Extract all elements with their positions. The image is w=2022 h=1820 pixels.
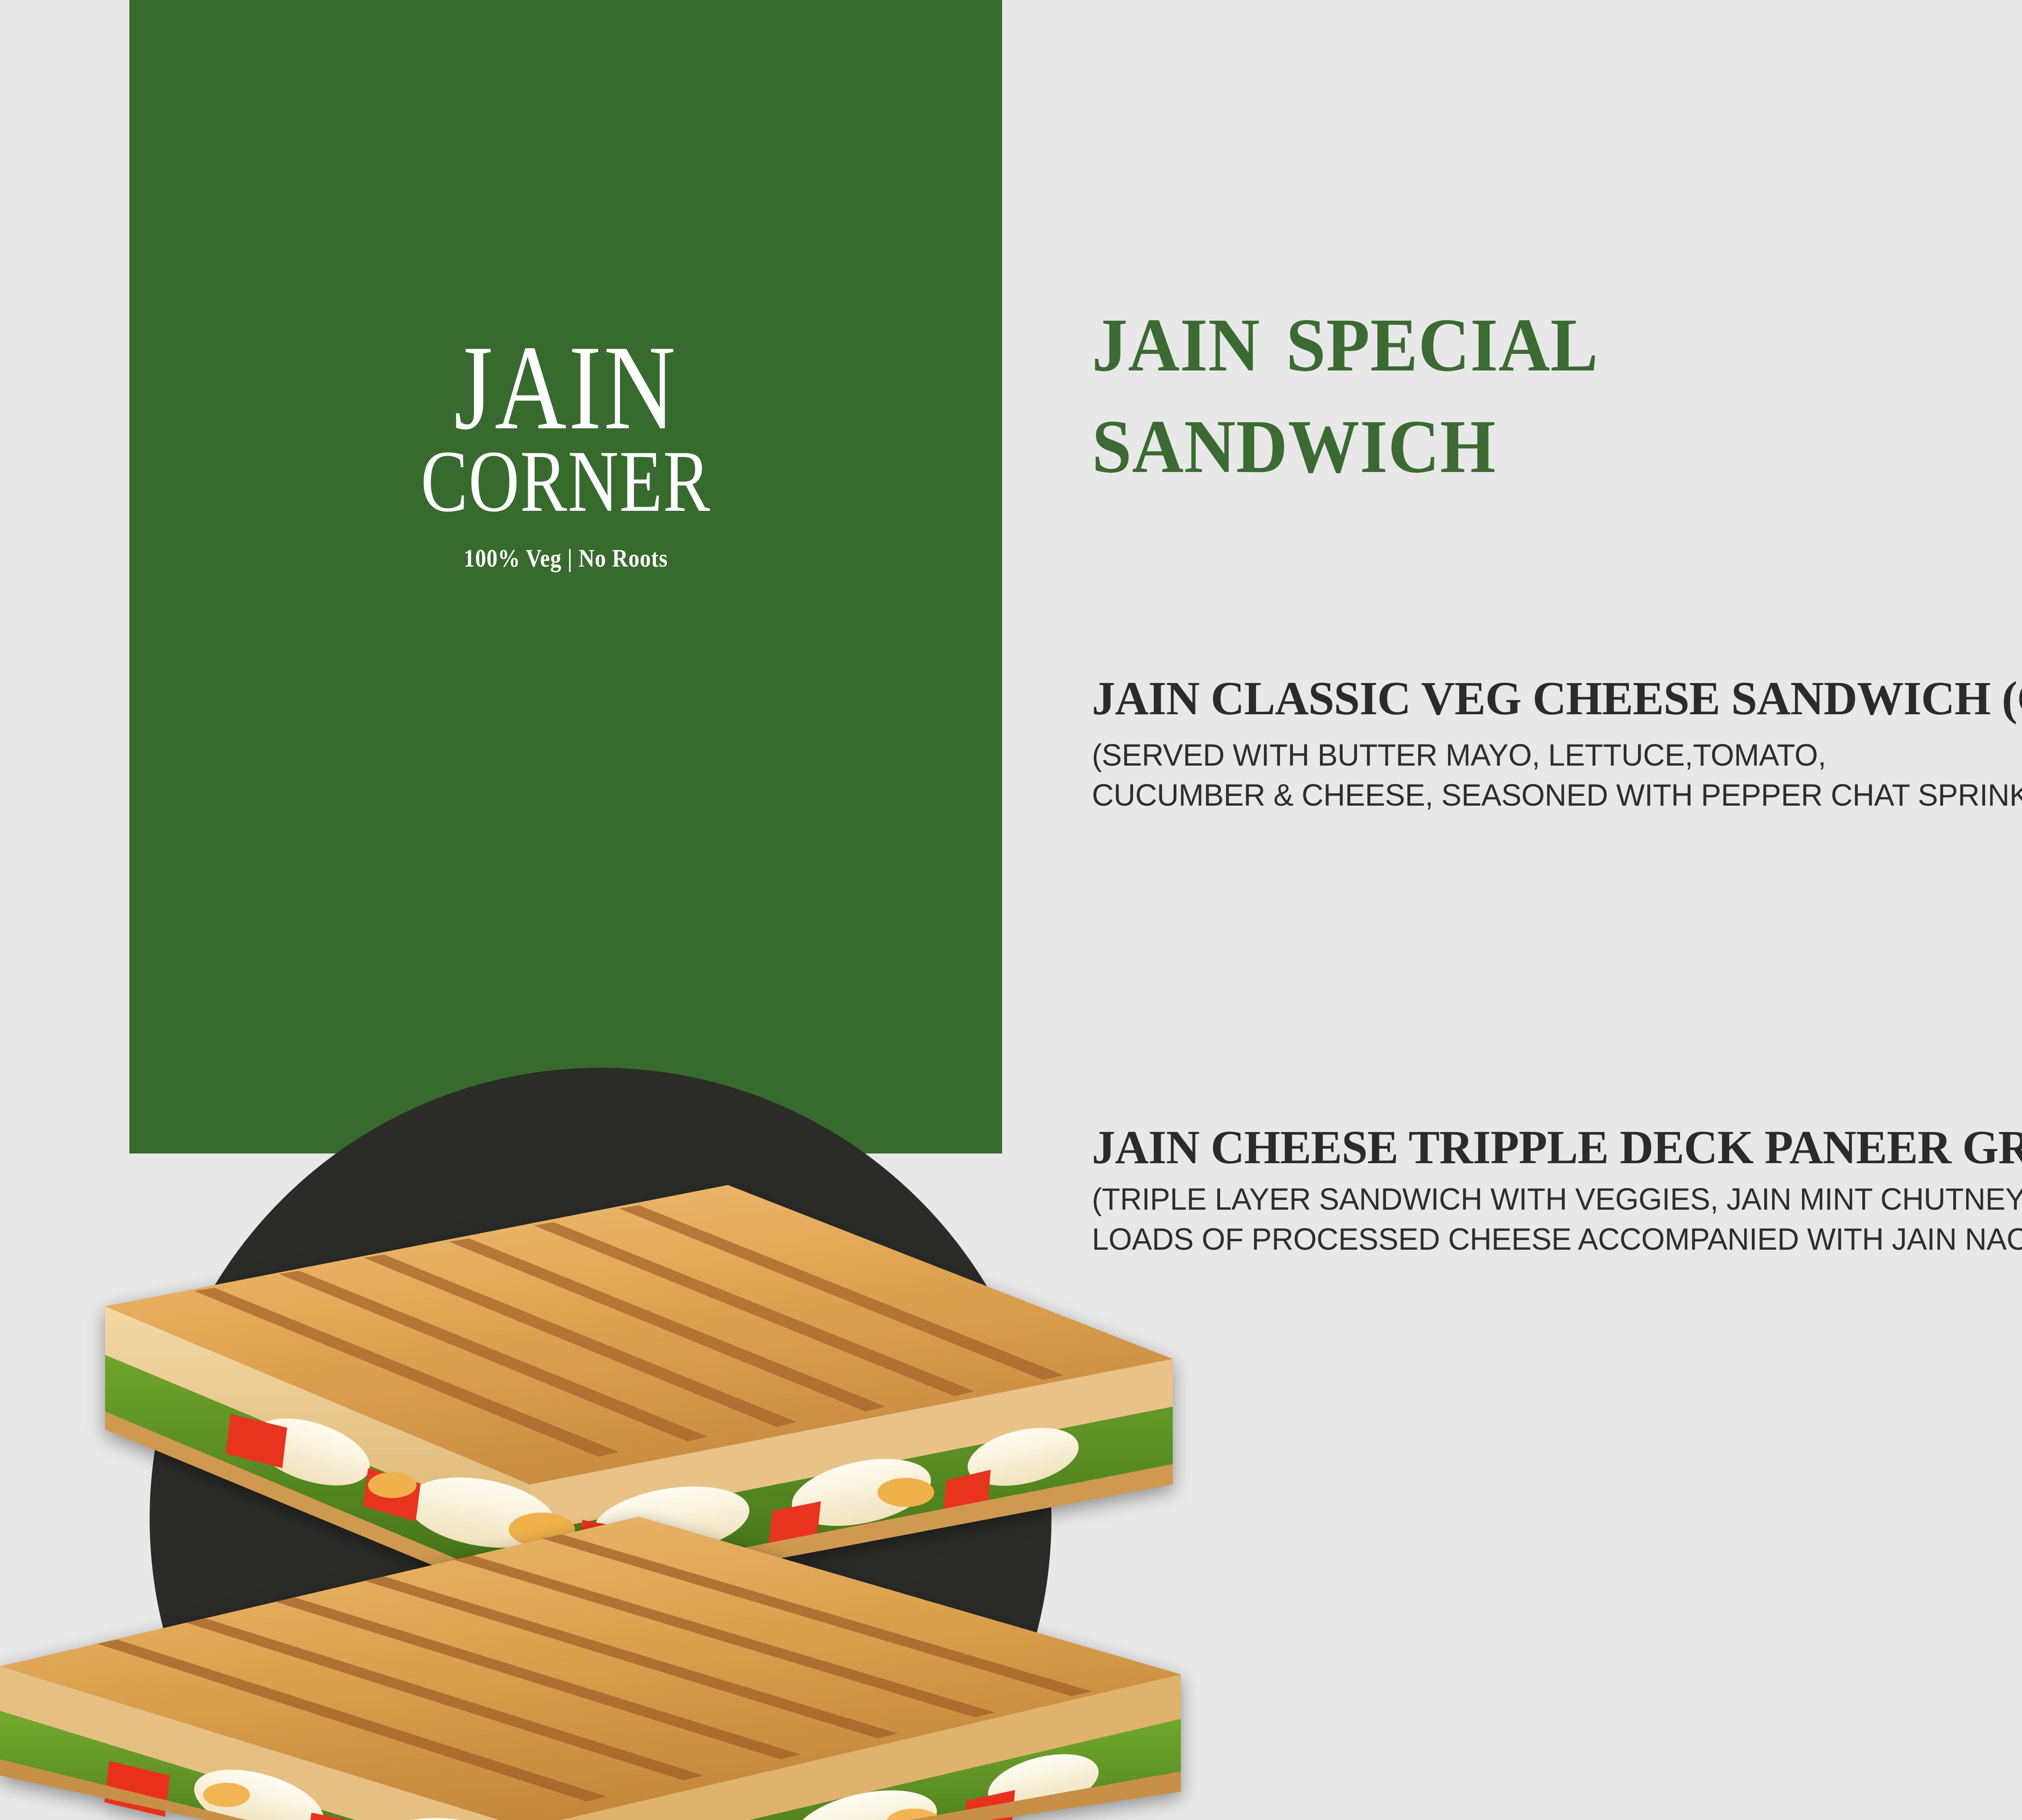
sandwich-slice-bottom-icon — [0, 1492, 1189, 1820]
menu-item-description: (TRIPLE LAYER SANDWICH WITH VEGGIES, JAI… — [1092, 1180, 2022, 1260]
menu-item-description-line2: CUCUMBER & CHEESE, SEASONED WITH PEPPER … — [1092, 776, 2022, 816]
section-title: Jain Special Sandwich — [1092, 283, 2022, 487]
menu-item-name: JAIN CLASSIC VEG CHEESE SANDWICH (COLD S… — [1092, 671, 2022, 725]
menu-item-name-line1: JAIN CLASSIC VEG CHEESE SANDWICH — [1092, 672, 1990, 725]
menu-item-description: (SERVED WITH BUTTER MAYO, LETTUCE,TOMATO… — [1092, 736, 2022, 816]
brand-tagline: 100% Veg | No Roots — [182, 544, 950, 573]
brand-name-line1: JAIN — [208, 332, 924, 443]
brand-lockup: JAIN CORNER 100% Veg | No Roots — [129, 332, 1002, 573]
menu-content: Jain Special Sandwich JAIN CLASSIC VEG C… — [1092, 0, 2022, 1820]
section-title-line1: Jain Special — [1092, 283, 2022, 385]
menu-item[interactable]: JAIN CLASSIC VEG CHEESE SANDWICH (COLD S… — [1092, 671, 2022, 816]
menu-item-description-line1: (SERVED WITH BUTTER MAYO, LETTUCE,TOMATO… — [1092, 736, 2022, 776]
brand-name-line2: CORNER — [217, 438, 915, 526]
menu-item-name-line2: (COLD SW) — [2002, 672, 2022, 725]
menu-item-name: JAIN CHEESE TRIPPLE DECK PANEER GRILLED … — [1092, 1120, 2022, 1174]
section-title-line2: Sandwich — [1092, 385, 2022, 487]
menu-item-name-line1: JAIN CHEESE TRIPPLE DECK PANEER — [1092, 1121, 1951, 1174]
menu-board: JAIN CORNER 100% Veg | No Roots — [0, 0, 2022, 1820]
menu-item-description-line2: LOADS OF PROCESSED CHEESE ACCOMPANIED WI… — [1092, 1220, 2022, 1260]
sandwich-image — [0, 1185, 1262, 1820]
menu-item-description-line1: (TRIPLE LAYER SANDWICH WITH VEGGIES, JAI… — [1092, 1180, 2022, 1220]
menu-item-name-line2: GRILLED SW — [1962, 1121, 2022, 1174]
menu-item[interactable]: JAIN CHEESE TRIPPLE DECK PANEER GRILLED … — [1092, 1120, 2022, 1260]
